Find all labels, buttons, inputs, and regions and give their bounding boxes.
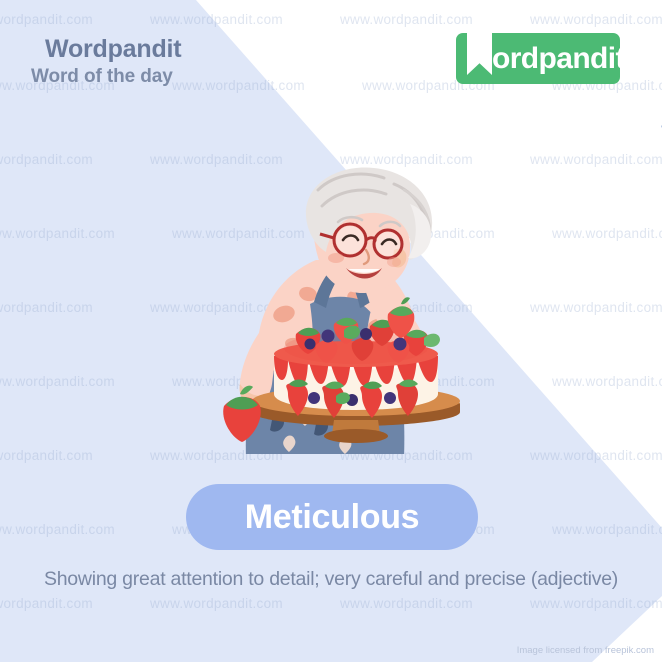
word-definition: Showing great attention to detail; very …	[0, 568, 662, 591]
word-of-the-day-pill[interactable]: Meticulous	[186, 484, 478, 550]
illustration-elderly-woman-decorating-cake	[188, 158, 484, 454]
header-branding: Wordpandit Word of the day	[45, 36, 181, 87]
word-text: Meticulous	[245, 498, 420, 537]
brand-title: Wordpandit	[45, 36, 181, 64]
brand-subtitle: Word of the day	[31, 66, 181, 88]
wordpandit-logo[interactable]: ordpandit	[456, 33, 620, 84]
word-of-the-day-card: www.wordpandit.comwww.wordpandit.comwww.…	[0, 0, 662, 662]
bookmark-icon	[467, 30, 492, 75]
logo-text: ordpandit	[492, 42, 625, 76]
image-credit: Image licensed from freepik.com	[517, 645, 654, 656]
